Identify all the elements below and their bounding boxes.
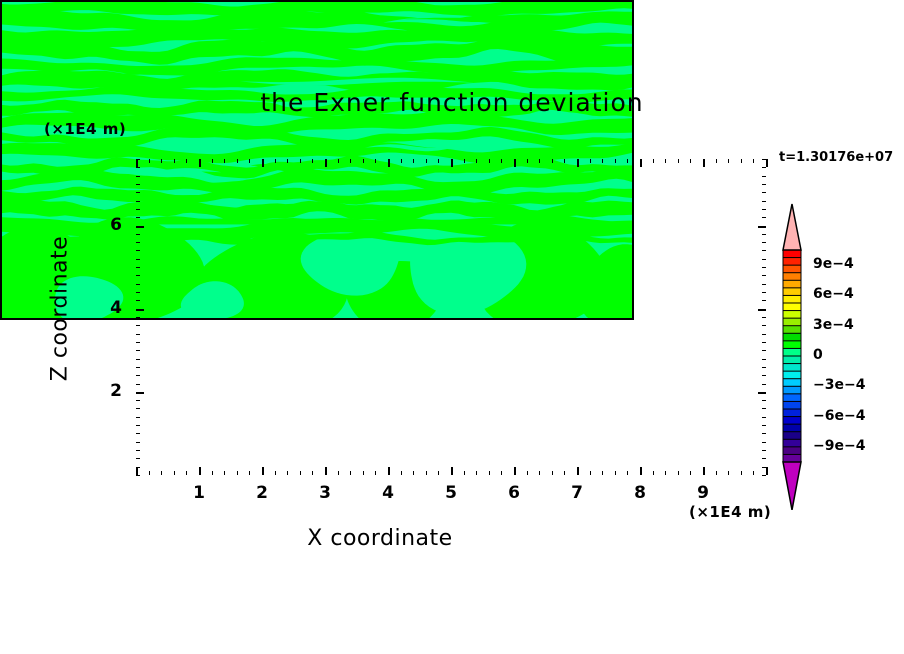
axis-tick — [728, 471, 729, 475]
axis-tick — [762, 450, 766, 451]
axis-tick — [136, 267, 140, 268]
axis-tick — [564, 159, 565, 163]
axis-tick — [375, 159, 376, 163]
axis-tick — [577, 467, 579, 475]
axis-tick — [758, 226, 766, 228]
axis-tick — [199, 467, 201, 475]
axis-tick — [501, 471, 502, 475]
axis-tick — [762, 159, 766, 160]
axis-tick — [552, 471, 553, 475]
axis-tick — [249, 471, 250, 475]
axis-tick — [363, 159, 364, 163]
axis-tick — [212, 471, 213, 475]
axis-tick — [758, 392, 766, 394]
axis-tick — [136, 275, 140, 276]
contour-field — [2, 2, 632, 318]
axis-tick — [527, 471, 528, 475]
axis-tick — [212, 159, 213, 163]
axis-tick — [602, 471, 603, 475]
axis-tick — [690, 159, 691, 163]
axis-tick — [136, 217, 140, 218]
axis-tick — [136, 350, 140, 351]
axis-tick — [762, 184, 766, 185]
axis-tick — [539, 471, 540, 475]
axis-tick — [375, 471, 376, 475]
axis-tick — [136, 400, 140, 401]
axis-tick — [762, 425, 766, 426]
axis-tick — [136, 167, 140, 168]
axis-tick — [136, 334, 140, 335]
axis-tick — [762, 433, 766, 434]
y-tick-label: 2 — [88, 381, 122, 401]
axis-tick — [762, 275, 766, 276]
axis-tick — [312, 159, 313, 163]
axis-tick — [741, 159, 742, 163]
axis-tick — [388, 467, 390, 475]
axis-tick — [766, 159, 768, 167]
axis-tick — [338, 471, 339, 475]
axis-tick — [590, 159, 591, 163]
axis-tick — [438, 471, 439, 475]
axis-tick — [653, 471, 654, 475]
axis-tick — [136, 284, 140, 285]
axis-tick — [136, 242, 140, 243]
colorbar-tick-label: 3e−4 — [813, 317, 854, 333]
y-tick-label: 4 — [88, 298, 122, 318]
axis-tick — [161, 159, 162, 163]
axis-tick — [762, 284, 766, 285]
time-annotation: t=1.30176e+07 — [779, 150, 893, 165]
axis-tick — [136, 450, 140, 451]
axis-tick — [690, 471, 691, 475]
colorbar-tick-label: 6e−4 — [813, 286, 854, 302]
axis-tick — [514, 159, 516, 167]
axis-tick — [275, 159, 276, 163]
axis-tick — [275, 471, 276, 475]
axis-tick — [325, 467, 327, 475]
axis-tick — [136, 408, 140, 409]
axis-tick — [762, 267, 766, 268]
y-axis-title: Z coordinate — [48, 189, 73, 429]
axis-tick — [136, 209, 140, 210]
axis-tick — [464, 471, 465, 475]
axis-tick — [136, 433, 140, 434]
axis-tick — [451, 159, 453, 167]
axis-tick — [762, 384, 766, 385]
axis-tick — [564, 471, 565, 475]
axis-tick — [136, 226, 144, 228]
axis-tick — [762, 359, 766, 360]
axis-tick — [716, 471, 717, 475]
axis-tick — [287, 471, 288, 475]
axis-tick — [199, 159, 201, 167]
axis-tick — [552, 159, 553, 163]
x-tick-label: 9 — [683, 483, 723, 503]
axis-tick — [388, 159, 390, 167]
axis-tick — [350, 159, 351, 163]
axis-tick — [539, 159, 540, 163]
axis-tick — [758, 309, 766, 311]
axis-tick — [753, 471, 754, 475]
axis-tick — [237, 471, 238, 475]
x-tick-label: 5 — [431, 483, 471, 503]
axis-tick — [762, 334, 766, 335]
axis-tick — [762, 250, 766, 251]
axis-tick — [741, 471, 742, 475]
axis-tick — [615, 159, 616, 163]
axis-tick — [161, 471, 162, 475]
axis-tick — [451, 467, 453, 475]
axis-tick — [527, 159, 528, 163]
axis-tick — [426, 159, 427, 163]
axis-tick — [762, 292, 766, 293]
x-tick-label: 3 — [305, 483, 345, 503]
axis-tick — [149, 471, 150, 475]
axis-tick — [665, 471, 666, 475]
x-tick-label: 2 — [242, 483, 282, 503]
axis-tick — [174, 471, 175, 475]
axis-tick — [325, 159, 327, 167]
axis-tick — [476, 159, 477, 163]
axis-tick — [762, 467, 766, 468]
axis-tick — [287, 159, 288, 163]
axis-tick — [716, 159, 717, 163]
axis-tick — [186, 471, 187, 475]
colorbar-swatches — [779, 200, 904, 510]
axis-tick — [653, 159, 654, 163]
axis-tick — [262, 159, 264, 167]
axis-tick — [136, 392, 144, 394]
axis-tick — [136, 475, 140, 476]
axis-tick — [762, 217, 766, 218]
axis-tick — [338, 159, 339, 163]
axis-tick — [762, 259, 766, 260]
axis-tick — [514, 467, 516, 475]
axis-tick — [300, 159, 301, 163]
axis-tick — [136, 159, 138, 167]
axis-tick — [762, 350, 766, 351]
z-axis-unit-label: (×1E4 m) — [44, 120, 126, 138]
axis-tick — [762, 342, 766, 343]
axis-tick — [237, 159, 238, 163]
axis-tick — [762, 408, 766, 409]
axis-tick — [762, 367, 766, 368]
axis-tick — [136, 159, 140, 160]
axis-tick — [136, 184, 140, 185]
x-axis-unit-label: (×1E4 m) — [689, 503, 771, 521]
axis-tick — [762, 201, 766, 202]
axis-tick — [762, 375, 766, 376]
x-tick-label: 6 — [494, 483, 534, 503]
colorbar-tick-label: 9e−4 — [813, 256, 854, 272]
y-tick-label: 6 — [88, 215, 122, 235]
axis-tick — [762, 442, 766, 443]
axis-tick — [678, 471, 679, 475]
axis-tick — [186, 159, 187, 163]
axis-tick — [426, 471, 427, 475]
axis-tick — [762, 167, 766, 168]
page-title: the Exner function deviation — [0, 88, 904, 117]
colorbar-tick-label: −6e−4 — [813, 408, 865, 424]
axis-tick — [136, 201, 140, 202]
axis-tick — [136, 342, 140, 343]
axis-tick — [762, 475, 766, 476]
x-tick-label: 7 — [557, 483, 597, 503]
axis-tick — [703, 159, 705, 167]
axis-tick — [249, 159, 250, 163]
axis-tick — [489, 159, 490, 163]
axis-tick — [728, 159, 729, 163]
axis-tick — [602, 159, 603, 163]
axis-tick — [413, 159, 414, 163]
axis-tick — [136, 458, 140, 459]
x-tick-label: 1 — [179, 483, 219, 503]
axis-tick — [136, 176, 140, 177]
axis-tick — [438, 159, 439, 163]
axis-tick — [577, 159, 579, 167]
axis-tick — [590, 471, 591, 475]
axis-tick — [136, 417, 140, 418]
x-tick-label: 8 — [620, 483, 660, 503]
axis-tick — [476, 471, 477, 475]
axis-tick — [401, 471, 402, 475]
axis-tick — [136, 259, 140, 260]
axis-tick — [363, 471, 364, 475]
axis-tick — [136, 467, 140, 468]
axis-tick — [762, 458, 766, 459]
axis-tick — [489, 471, 490, 475]
axis-tick — [703, 467, 705, 475]
axis-tick — [464, 159, 465, 163]
axis-tick — [762, 234, 766, 235]
axis-tick — [762, 400, 766, 401]
axis-tick — [300, 471, 301, 475]
axis-tick — [640, 159, 642, 167]
axis-tick — [312, 471, 313, 475]
axis-tick — [136, 317, 140, 318]
axis-tick — [665, 159, 666, 163]
axis-tick — [350, 471, 351, 475]
axis-tick — [762, 317, 766, 318]
colorbar-tick-label: 0 — [813, 347, 823, 363]
axis-tick — [401, 159, 402, 163]
axis-tick — [136, 292, 140, 293]
axis-tick — [501, 159, 502, 163]
axis-tick — [136, 359, 140, 360]
axis-tick — [762, 192, 766, 193]
axis-tick — [136, 425, 140, 426]
axis-tick — [136, 442, 140, 443]
x-tick-label: 4 — [368, 483, 408, 503]
colorbar — [779, 200, 904, 510]
axis-tick — [136, 325, 140, 326]
axis-tick — [262, 467, 264, 475]
colorbar-tick-label: −9e−4 — [813, 438, 865, 454]
axis-tick — [136, 300, 140, 301]
axis-tick — [640, 467, 642, 475]
axis-tick — [136, 309, 144, 311]
axis-tick — [627, 159, 628, 163]
axis-tick — [136, 375, 140, 376]
axis-tick — [136, 384, 140, 385]
axis-tick — [174, 159, 175, 163]
axis-tick — [136, 367, 140, 368]
axis-tick — [762, 176, 766, 177]
axis-tick — [224, 471, 225, 475]
axis-tick — [615, 471, 616, 475]
x-axis-title: X coordinate — [0, 526, 760, 551]
axis-tick — [136, 250, 140, 251]
axis-tick — [762, 417, 766, 418]
axis-tick — [413, 471, 414, 475]
axis-tick — [136, 192, 140, 193]
axis-tick — [678, 159, 679, 163]
axis-tick — [766, 467, 768, 475]
axis-tick — [762, 300, 766, 301]
axis-tick — [627, 471, 628, 475]
axis-tick — [753, 159, 754, 163]
axis-tick — [762, 242, 766, 243]
axis-tick — [762, 325, 766, 326]
colorbar-tick-label: −3e−4 — [813, 377, 865, 393]
axis-tick — [224, 159, 225, 163]
axis-tick — [762, 209, 766, 210]
axis-tick — [136, 234, 140, 235]
axis-tick — [136, 467, 138, 475]
axis-tick — [149, 159, 150, 163]
